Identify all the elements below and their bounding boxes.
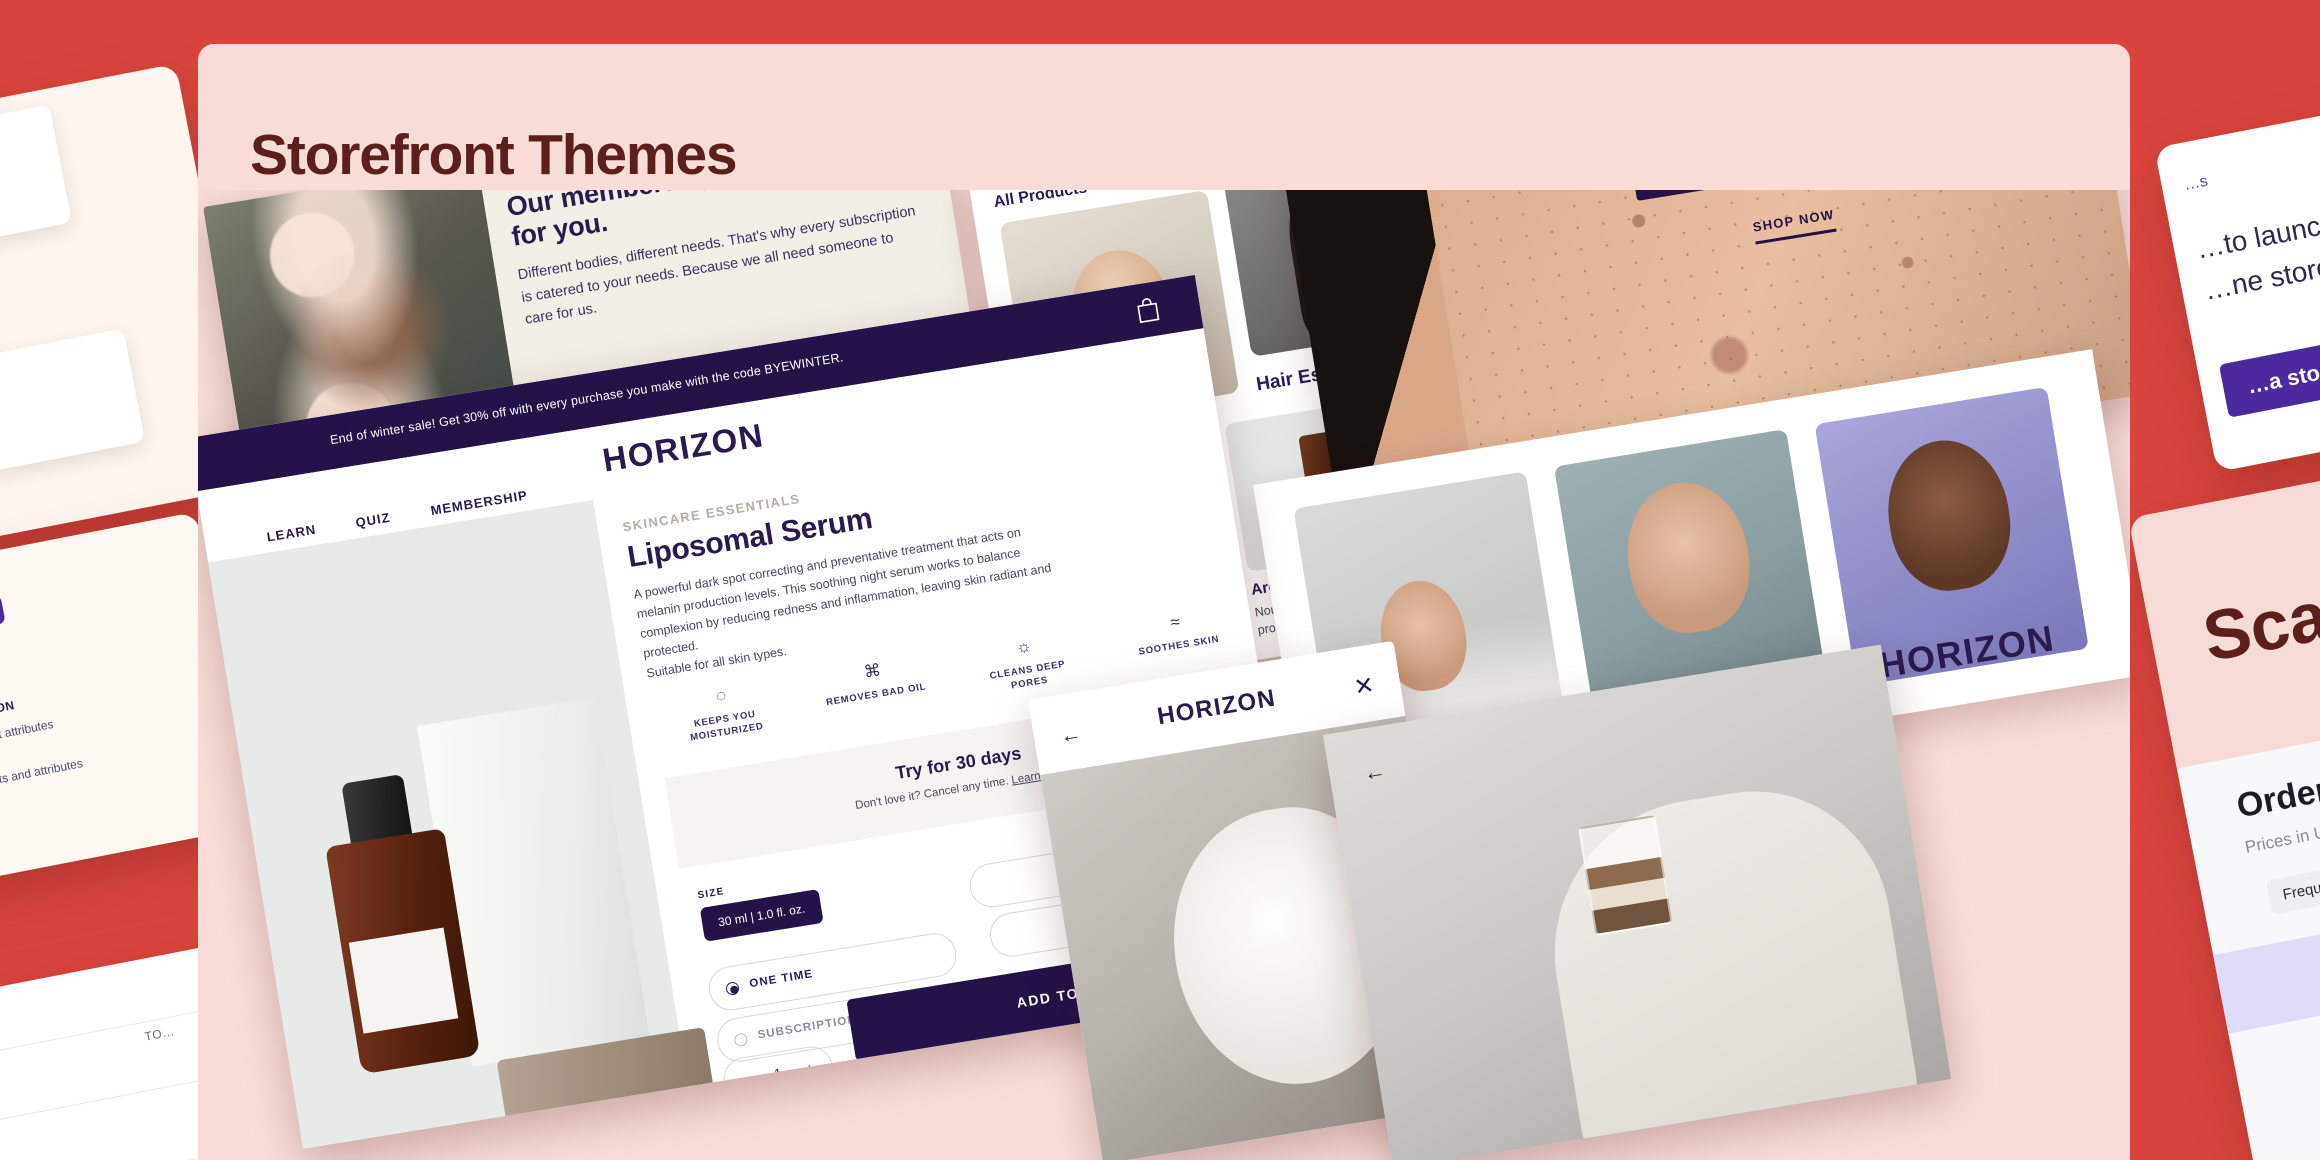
all-products-label: All Products [993,190,1089,212]
screenshot-stage: …tain …unts. …s and reporting …ty Dashbo… [0,0,2320,1160]
column-header-total: TO… [143,1024,175,1044]
divider [0,1005,230,1082]
in-this-section-link[interactable]: Creating product attributes [0,708,93,760]
bg-right-crumb: …s [2182,173,2209,195]
dashboard-button[interactable]: Dashboard [0,595,5,642]
back-arrow-icon[interactable]: ← [1362,758,1388,787]
in-this-section-link[interactable]: Product variants and attributes [0,749,111,803]
size-label: SIZE [697,886,725,901]
radio-one-time[interactable] [725,981,740,996]
bg-card-right-bottom: Sca… Orders Prices in US… Frequent b… CR… [2128,434,2320,1160]
shopping-bag-icon[interactable] [1134,295,1162,325]
bg-mini-card [0,329,145,490]
option-subscription-label: SUBSCRIPTION [757,1014,858,1042]
membership-copy: Our membership,for you. Different bodies… [505,190,927,332]
product-gallery[interactable] [208,500,688,1149]
qty-decrease-button[interactable]: - [741,1071,748,1087]
bottle-label [349,927,458,1033]
bg-mini-card [0,105,72,265]
feature-soothes-skin: ≈ SOOTHES SKIN [1119,604,1236,675]
option-one-time-label: ONE TIME [749,968,814,990]
bg-right-bottom-heading: Orders [2234,767,2320,827]
feature-removes-oil: ⌘ REMOVES BAD OIL [817,653,934,724]
close-icon[interactable]: ✕ [1352,671,1376,703]
radio-subscription[interactable] [733,1032,748,1047]
bg-right-bottom-chip[interactable]: Frequent b… [2266,859,2320,915]
lifestyle-photo-card[interactable]: ← [1323,645,1951,1160]
theme-collage: Our membership,for you. Different bodies… [198,190,2130,1160]
feature-deep-pores: ☼ CLEANS DEEP PORES [968,628,1085,699]
qty-increase-button[interactable]: + [805,1060,815,1076]
qty-value: 1 [773,1065,783,1081]
gallery-subject [1877,432,2019,599]
horizon-logo: HORIZON [1155,685,1278,732]
create-store-button[interactable]: …a store [2219,338,2320,418]
back-arrow-icon[interactable]: ← [1058,722,1083,749]
page-title: Storefront Themes [250,122,736,188]
bg-card-right-top: …s …to launch and …ne store. …a store [2154,68,2320,472]
gallery-subject [1617,474,1759,641]
bg-right-bottom-swatch [2203,926,2320,1036]
feature-moisturized: ◌ KEEPS YOU MOISTURIZED [665,677,782,748]
